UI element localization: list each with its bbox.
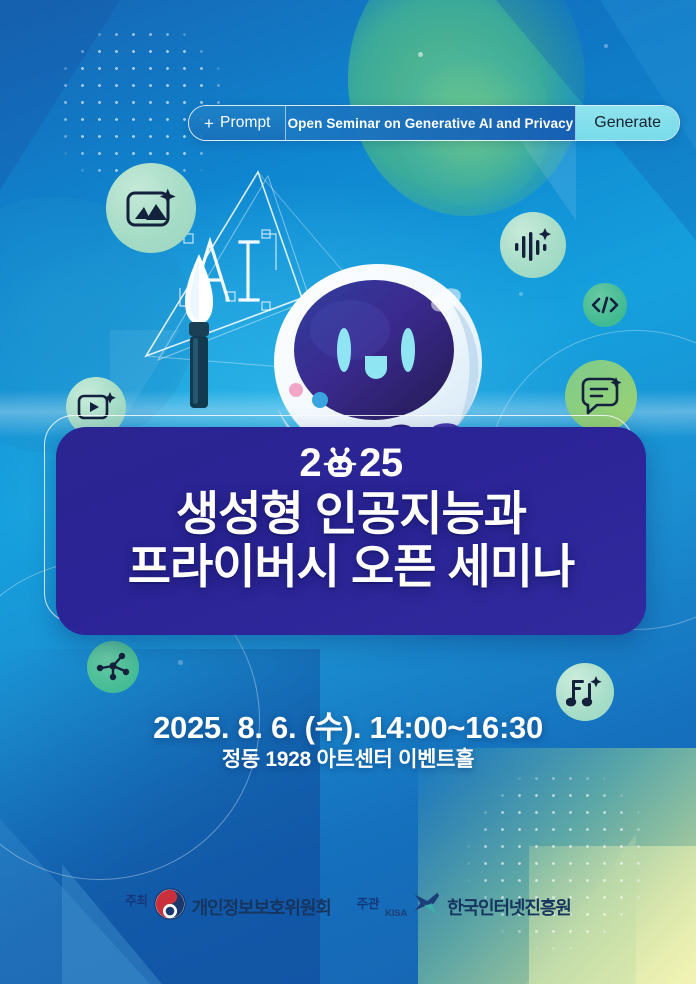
decor-sparkle-dot	[178, 660, 183, 665]
kisa-logo-icon	[413, 891, 441, 922]
event-date: 2025. 8. 6. (수). 14:00~16:30	[0, 702, 696, 747]
poster-canvas: 2 25 생성형 인공지능	[0, 0, 696, 984]
plus-icon: +	[204, 115, 214, 132]
add-prompt-button[interactable]: +Prompt	[189, 106, 286, 140]
organizer-role-label: 주관	[357, 893, 379, 912]
year-badge: 2 25	[299, 441, 402, 485]
prompt-bar[interactable]: +PromptOpen Seminar on Generative AI and…	[188, 105, 680, 141]
title-panel: 2 25 생성형 인공지능	[56, 427, 646, 635]
decor-sparkle-dot	[604, 44, 608, 48]
decor-sparkle-dot	[418, 52, 423, 57]
network-node-icon[interactable]	[87, 641, 139, 693]
generate-button[interactable]: Generate	[576, 106, 679, 140]
robot-zero-icon	[323, 445, 357, 481]
code-icon[interactable]	[583, 283, 627, 327]
title-line-2: 프라이버시 오픈 세미나	[128, 542, 575, 592]
host-role-label: 주최	[125, 890, 147, 909]
organizer-organization: 주관 KISA 한국인터넷진흥원	[357, 891, 571, 922]
year-suffix: 25	[359, 443, 403, 483]
organizer-name: 한국인터넷진흥원	[447, 894, 571, 920]
title-line-1: 생성형 인공지능과	[176, 489, 526, 539]
kisa-wordmark: KISA	[385, 908, 407, 919]
host-name: 개인정보보호위원회	[192, 894, 331, 920]
footer-logos: 주최 개인정보보호위원회 주관 KISA	[0, 888, 696, 925]
paintbrush-icon	[176, 250, 222, 410]
event-venue: 정동 1928 아트센터 이벤트홀	[0, 743, 696, 773]
host-organization: 주최 개인정보보호위원회	[125, 888, 331, 925]
year-prefix: 2	[299, 443, 321, 483]
prompt-label: Prompt	[220, 114, 271, 132]
image-generation-icon[interactable]	[106, 163, 196, 253]
audio-waveform-icon[interactable]	[500, 212, 566, 278]
prompt-input[interactable]: Open Seminar on Generative AI and Privac…	[286, 106, 577, 140]
government-emblem-icon	[154, 888, 186, 925]
decor-sparkle-dot	[519, 292, 523, 296]
